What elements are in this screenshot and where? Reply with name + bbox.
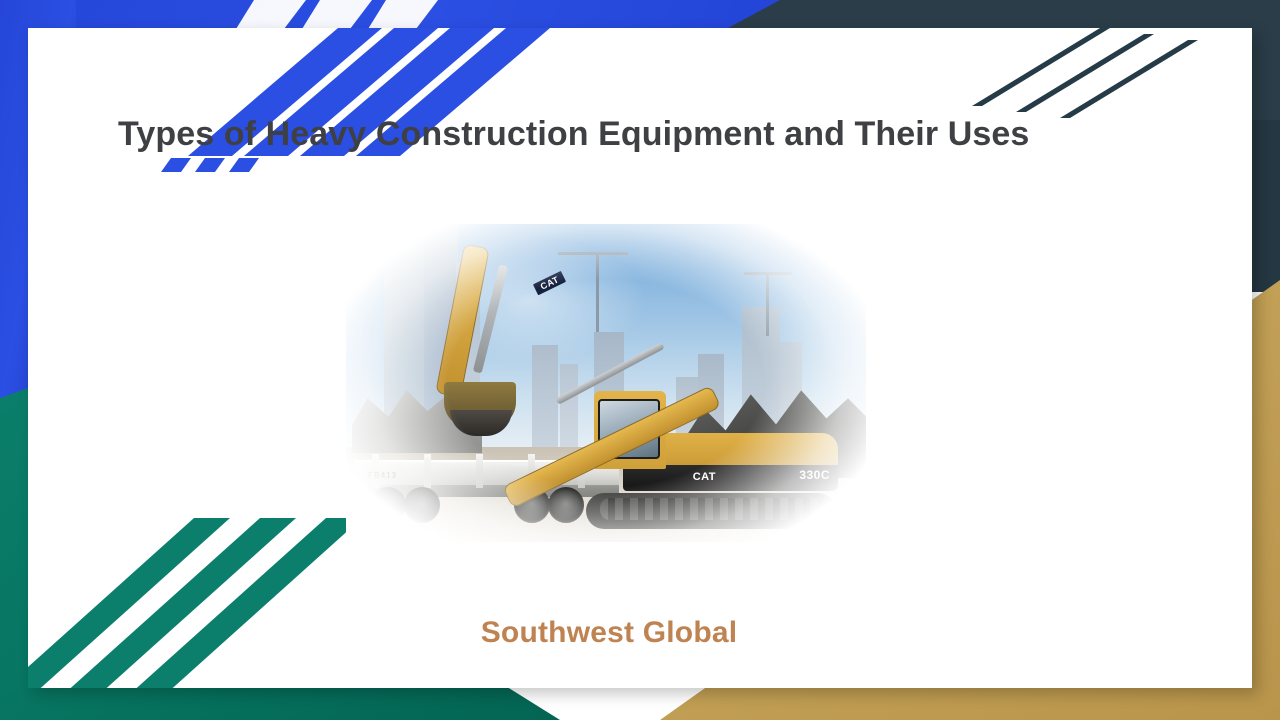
truck-stake [424,454,431,488]
skyline-building [560,364,578,447]
page-title: Types of Heavy Construction Equipment an… [118,114,1178,155]
tower-crane-jib [558,252,628,255]
body-cat-decal: CAT [693,471,716,483]
title-dash-accents [161,156,271,174]
tower-crane [596,252,599,332]
photo-scene: FB413 CAT CAT 330C [346,224,866,542]
tower-crane [766,272,769,336]
tower-crane-jib [744,272,792,275]
skyline-building [532,345,558,447]
blue-card-stripes [188,28,608,178]
subtitle: Southwest Global [28,616,1190,650]
slide-content-card: Types of Heavy Construction Equipment an… [28,28,1252,688]
presentation-slide: Types of Heavy Construction Equipment an… [0,0,1280,720]
trailer-plate-decal: FB413 [368,471,397,480]
truck-wheel [370,487,406,523]
truck-stake [476,454,483,488]
excavator-photo: FB413 CAT CAT 330C [346,224,866,542]
hero-image: FB413 CAT CAT 330C [346,224,866,542]
model-number-decal: 330C [799,468,830,482]
truck-wheel [548,487,584,523]
truck-wheel [404,487,440,523]
excavator-track-pads [600,498,822,520]
